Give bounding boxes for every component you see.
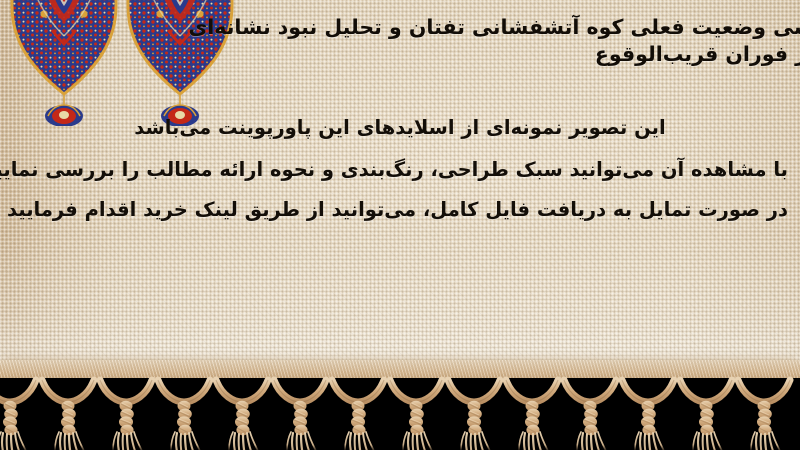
body-line-1: این تصویر نمونه‌ای از اسلایدهای این پاور… (12, 118, 788, 138)
heading-line-1: سی وضعیت فعلی کوه آتشفشانی تفتان و تحلیل… (0, 14, 800, 41)
body-line-3: در صورت تمایل به دریافت فایل کامل، می‌تو… (12, 200, 788, 220)
slide-canvas: سی وضعیت فعلی کوه آتشفشانی تفتان و تحلیل… (0, 0, 800, 450)
slide-heading: سی وضعیت فعلی کوه آتشفشانی تفتان و تحلیل… (0, 14, 800, 67)
heading-line-2: از فوران قریب‌الوقوع (0, 41, 800, 68)
slide-body-text: این تصویر نمونه‌ای از اسلایدهای این پاور… (12, 118, 788, 239)
black-background-field (0, 378, 800, 450)
body-line-2: با مشاهده آن می‌توانید سبک طراحی، رنگ‌بن… (12, 160, 788, 180)
